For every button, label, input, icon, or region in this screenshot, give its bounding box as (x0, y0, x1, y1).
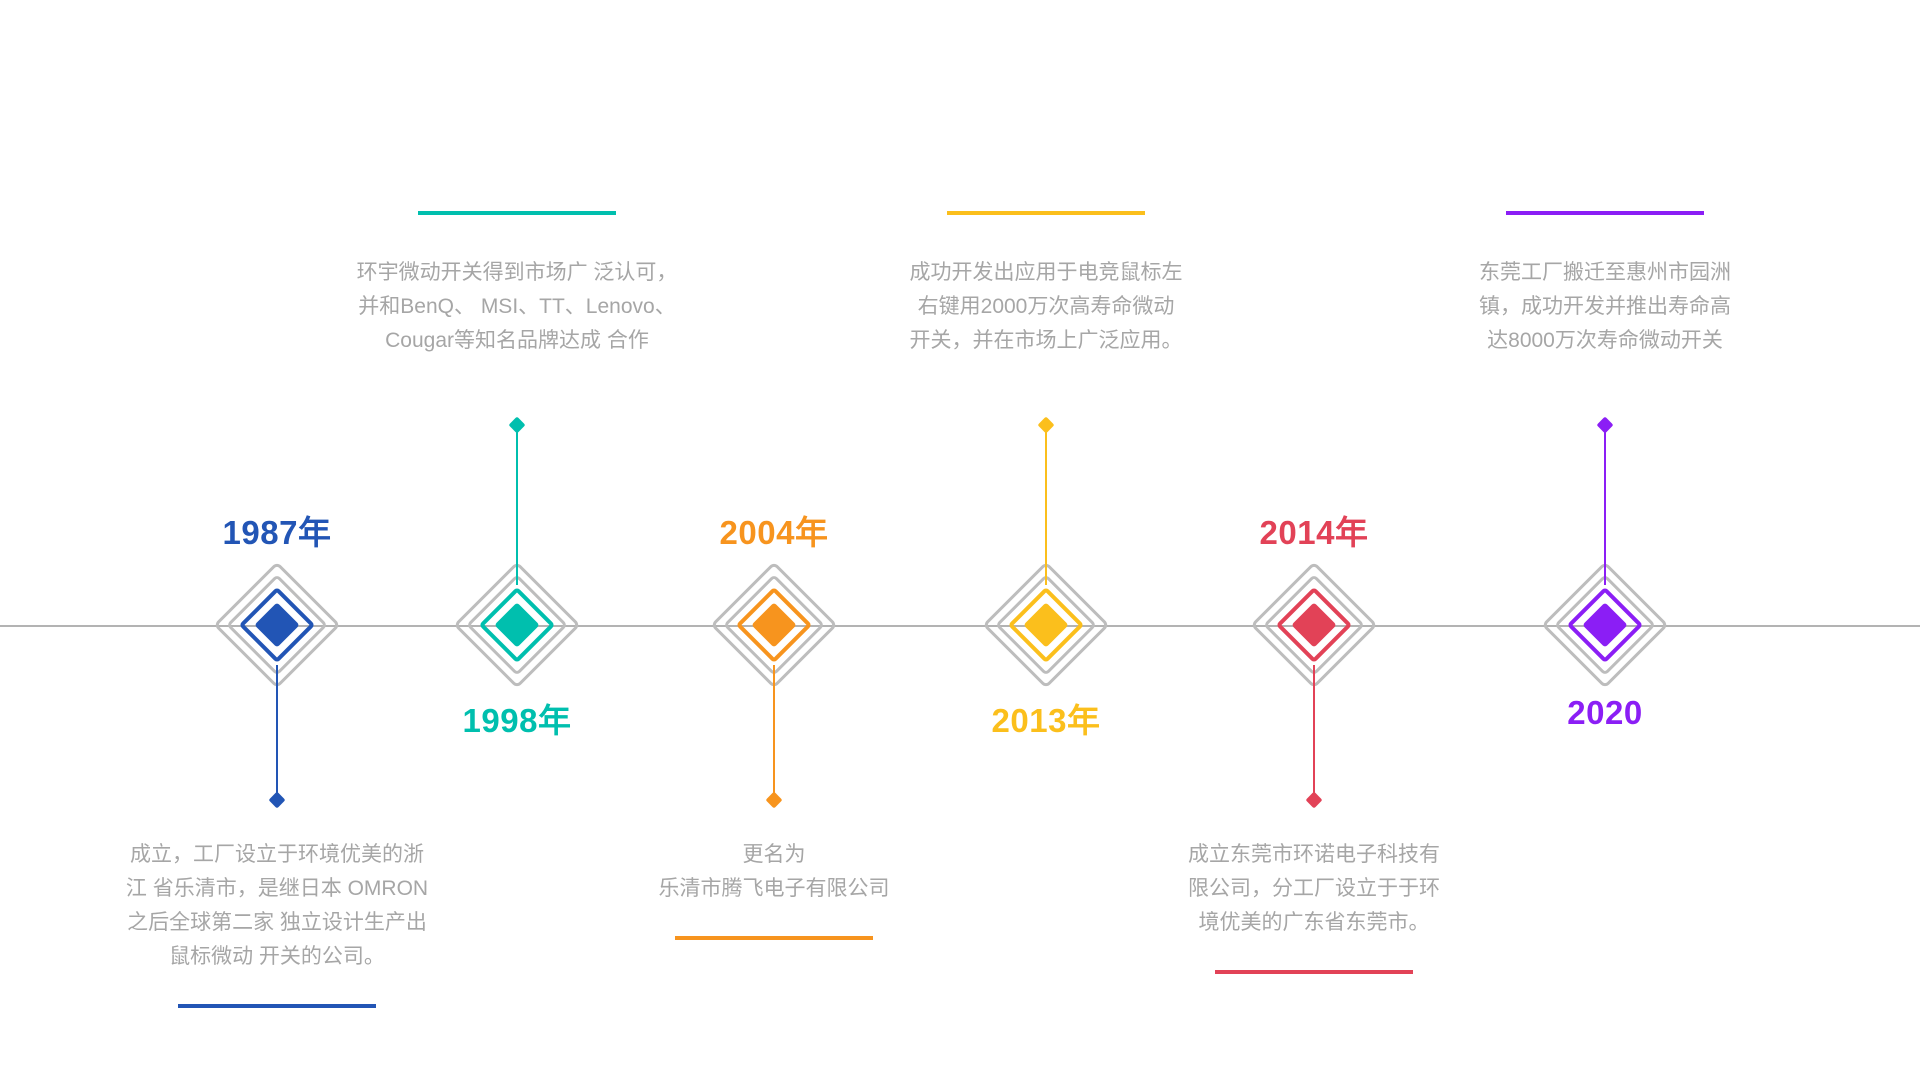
milestone-year-label: 2004年 (594, 506, 954, 554)
milestone-connector-stem (1313, 665, 1315, 800)
description-line: 境优美的广东省东莞市。 (1144, 906, 1484, 940)
milestone-accent-bar (178, 1004, 376, 1008)
milestone-marker-diamond[interactable] (722, 573, 826, 677)
milestone-marker-diamond[interactable] (465, 573, 569, 677)
milestone-year-label: 2020 (1425, 694, 1785, 732)
description-line: 达8000万次寿命微动开关 (1435, 324, 1775, 358)
milestone-accent-bar (675, 936, 873, 940)
description-line: 限公司，分工厂设立于于环 (1144, 872, 1484, 906)
description-line: 鼠标微动 开关的公司。 (107, 940, 447, 974)
description-line: 成功开发出应用于电竞鼠标左 (876, 256, 1216, 290)
milestone-year-label: 2014年 (1134, 506, 1494, 554)
milestone-year-label: 1987年 (97, 506, 457, 554)
milestone-accent-bar (1215, 970, 1413, 974)
timeline-diagram: 1987年成立，工厂设立于环境优美的浙江 省乐清市，是继日本 OMRON之后全球… (0, 0, 1920, 1080)
milestone-description: 更名为乐清市腾飞电子有限公司 (604, 838, 944, 906)
milestone-accent-bar (1506, 211, 1704, 215)
milestone-marker-diamond[interactable] (994, 573, 1098, 677)
milestone-accent-bar (947, 211, 1145, 215)
milestone-connector-stem (516, 425, 518, 585)
connector-tip-diamond-icon (766, 792, 783, 809)
description-line: 并和BenQ、 MSI、TT、Lenovo、 (347, 290, 687, 324)
milestone-description: 成立，工厂设立于环境优美的浙江 省乐清市，是继日本 OMRON之后全球第二家 独… (107, 838, 447, 974)
milestone-description: 环宇微动开关得到市场广 泛认可，并和BenQ、 MSI、TT、Lenovo、Co… (347, 256, 687, 358)
milestone-marker-diamond[interactable] (1553, 573, 1657, 677)
milestone-description: 成立东莞市环诺电子科技有限公司，分工厂设立于于环境优美的广东省东莞市。 (1144, 838, 1484, 940)
milestone-year-label: 2013年 (866, 694, 1226, 742)
description-line: 成立东莞市环诺电子科技有 (1144, 838, 1484, 872)
description-line: 右键用2000万次高寿命微动 (876, 290, 1216, 324)
milestone-description: 成功开发出应用于电竞鼠标左右键用2000万次高寿命微动开关，并在市场上广泛应用。 (876, 256, 1216, 358)
milestone-year-label: 1998年 (337, 694, 697, 742)
connector-tip-diamond-icon (1597, 417, 1614, 434)
milestone-connector-stem (1045, 425, 1047, 585)
description-line: 之后全球第二家 独立设计生产出 (107, 906, 447, 940)
milestone-marker-diamond[interactable] (225, 573, 329, 677)
description-line: 江 省乐清市，是继日本 OMRON (107, 872, 447, 906)
description-line: 镇，成功开发并推出寿命高 (1435, 290, 1775, 324)
description-line: 环宇微动开关得到市场广 泛认可， (347, 256, 687, 290)
connector-tip-diamond-icon (509, 417, 526, 434)
description-line: 成立，工厂设立于环境优美的浙 (107, 838, 447, 872)
connector-tip-diamond-icon (269, 792, 286, 809)
milestone-connector-stem (1604, 425, 1606, 585)
connector-tip-diamond-icon (1306, 792, 1323, 809)
connector-tip-diamond-icon (1038, 417, 1055, 434)
description-line: 更名为 (604, 838, 944, 872)
milestone-connector-stem (276, 665, 278, 800)
milestone-marker-diamond[interactable] (1262, 573, 1366, 677)
milestone-description: 东莞工厂搬迁至惠州市园洲镇，成功开发并推出寿命高达8000万次寿命微动开关 (1435, 256, 1775, 358)
milestone-accent-bar (418, 211, 616, 215)
description-line: 乐清市腾飞电子有限公司 (604, 872, 944, 906)
description-line: Cougar等知名品牌达成 合作 (347, 324, 687, 358)
description-line: 开关，并在市场上广泛应用。 (876, 324, 1216, 358)
description-line: 东莞工厂搬迁至惠州市园洲 (1435, 256, 1775, 290)
milestone-connector-stem (773, 665, 775, 800)
